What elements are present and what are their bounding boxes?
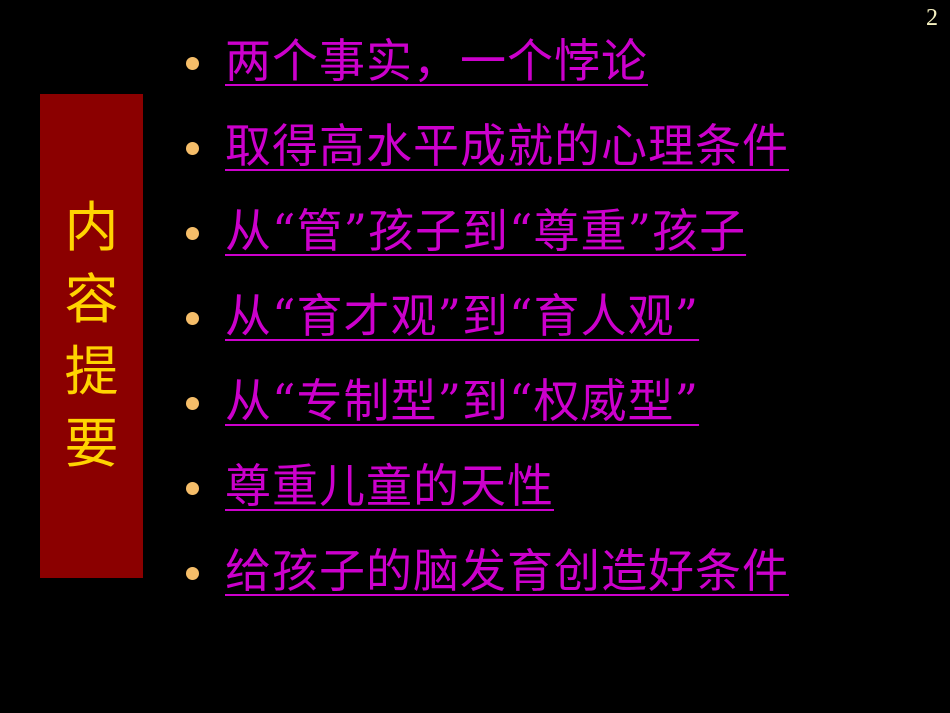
bullet-dot-icon xyxy=(186,482,199,495)
slide-canvas: 2 内 容 提 要 两个事实，一个悖论 取得高水平成就的心理条件 从“管”孩子到… xyxy=(0,0,950,713)
bullet-dot-icon xyxy=(186,567,199,580)
section-title-char-2: 容 xyxy=(65,273,119,327)
bullet-dot-icon xyxy=(186,227,199,240)
agenda-link-4[interactable]: 从“育才观”到“育人观” xyxy=(225,292,699,340)
section-title-vertical-text: 内 容 提 要 xyxy=(65,201,119,471)
list-item[interactable]: 给孩子的脑发育创造好条件 xyxy=(186,529,936,614)
list-item[interactable]: 从“育才观”到“育人观” xyxy=(186,274,936,359)
agenda-link-7[interactable]: 给孩子的脑发育创造好条件 xyxy=(225,547,789,595)
list-item[interactable]: 从“专制型”到“权威型” xyxy=(186,359,936,444)
bullet-dot-icon xyxy=(186,57,199,70)
bullet-dot-icon xyxy=(186,397,199,410)
agenda-link-6[interactable]: 尊重儿童的天性 xyxy=(225,462,554,510)
list-item[interactable]: 取得高水平成就的心理条件 xyxy=(186,104,936,189)
agenda-link-3[interactable]: 从“管”孩子到“尊重”孩子 xyxy=(225,207,746,255)
agenda-link-1[interactable]: 两个事实，一个悖论 xyxy=(225,37,648,85)
bullet-dot-icon xyxy=(186,312,199,325)
section-title-plaque: 内 容 提 要 xyxy=(40,94,143,578)
agenda-link-2[interactable]: 取得高水平成就的心理条件 xyxy=(225,122,789,170)
list-item[interactable]: 从“管”孩子到“尊重”孩子 xyxy=(186,189,936,274)
list-item[interactable]: 尊重儿童的天性 xyxy=(186,444,936,529)
section-title-char-1: 内 xyxy=(65,201,119,255)
bullet-dot-icon xyxy=(186,142,199,155)
agenda-bullet-list: 两个事实，一个悖论 取得高水平成就的心理条件 从“管”孩子到“尊重”孩子 从“育… xyxy=(186,19,936,614)
section-title-char-3: 提 xyxy=(65,345,119,399)
list-item[interactable]: 两个事实，一个悖论 xyxy=(186,19,936,104)
agenda-link-5[interactable]: 从“专制型”到“权威型” xyxy=(225,377,699,425)
section-title-char-4: 要 xyxy=(65,417,119,471)
